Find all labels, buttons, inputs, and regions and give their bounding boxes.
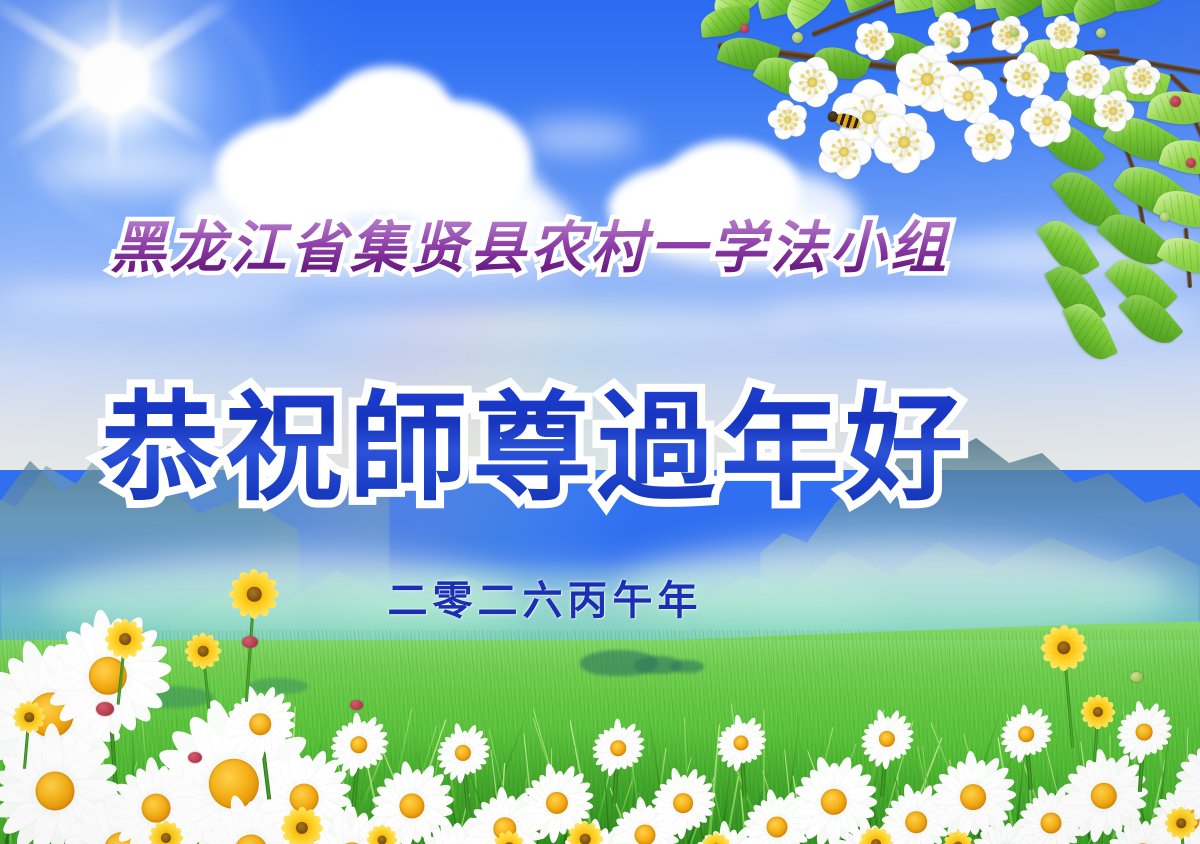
greeting-card: 黑龙江省集贤县农村一学法小组 黑龙江省集贤县农村一学法小组 恭祝師尊過年好 恭祝… [0, 0, 1200, 844]
main-greeting-fill: 恭祝師尊過年好 [101, 352, 969, 523]
main-greeting: 恭祝師尊過年好 恭祝師尊過年好 恭祝師尊過年好 [0, 352, 1070, 523]
organization-line: 黑龙江省集贤县农村一学法小组 黑龙江省集贤县农村一学法小组 [0, 203, 1060, 284]
text-layer: 黑龙江省集贤县农村一学法小组 黑龙江省集贤县农村一学法小组 恭祝師尊過年好 恭祝… [0, 0, 1200, 844]
lunar-year-line: 二零二六丙午年 [0, 568, 1090, 626]
organization-line-fill: 黑龙江省集贤县农村一学法小组 [110, 203, 950, 284]
